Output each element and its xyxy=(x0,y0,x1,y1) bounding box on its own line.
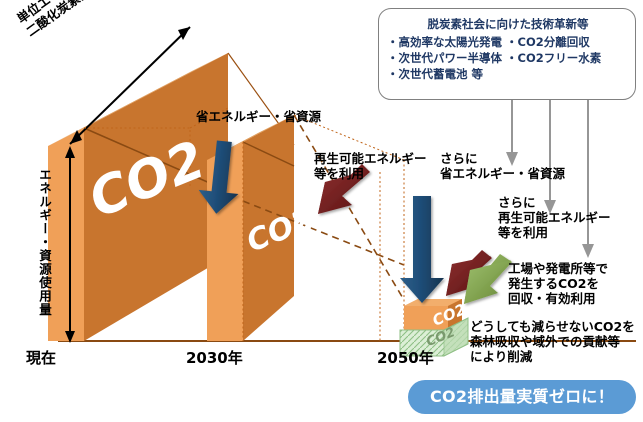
year-label-2030: 2030年 xyxy=(186,347,243,368)
year-label-2050: 2050年 xyxy=(377,347,434,368)
innovation-box-line-3: ・次世代蓄電池 等 xyxy=(387,66,635,82)
zero-emission-callout: CO2排出量実質ゼロに！ xyxy=(408,380,636,414)
innovation-box: 脱炭素社会に向けた技術革新等 ・高効率な太陽光発電 ・CO2分離回収 ・次世代パ… xyxy=(378,8,636,100)
annotation-offset-2050: どうしても減らせないCO2を 森林吸収や域外での貢献等 により削減 xyxy=(470,320,635,364)
innovation-box-line-2: ・次世代パワー半導体 ・CO2フリー水素 xyxy=(387,50,635,66)
annotation-renewable-2050: さらに 再生可能エネルギー 等を利用 xyxy=(498,196,611,240)
annotation-ccus-2050: 工場や発電所等で 発生するCO2を 回収・有効利用 xyxy=(508,262,608,306)
zero-emission-callout-text: CO2排出量実質ゼロに！ xyxy=(408,380,636,414)
annotation-renewable-2030: 再生可能エネルギー 等を利用 xyxy=(314,152,427,182)
year-label-present: 現在 xyxy=(26,347,56,368)
arrow-energy-saving-2050 xyxy=(400,196,444,303)
infographic-canvas: 単位エネルギー量・資源量 あたりの二酸化炭素排出量 エネルギー・資源使用量 CO… xyxy=(0,0,643,422)
innovation-box-line-1: ・高効率な太陽光発電 ・CO2分離回収 xyxy=(387,34,635,50)
energy-resource-axis-label: エネルギー・資源使用量 xyxy=(36,168,54,317)
innovation-box-title: 脱炭素社会に向けた技術革新等 xyxy=(379,16,637,32)
annotation-energy-saving-2050: さらに 省エネルギー・省資源 xyxy=(440,152,565,182)
annotation-energy-saving-2030: 省エネルギー・省資源 xyxy=(196,110,321,125)
